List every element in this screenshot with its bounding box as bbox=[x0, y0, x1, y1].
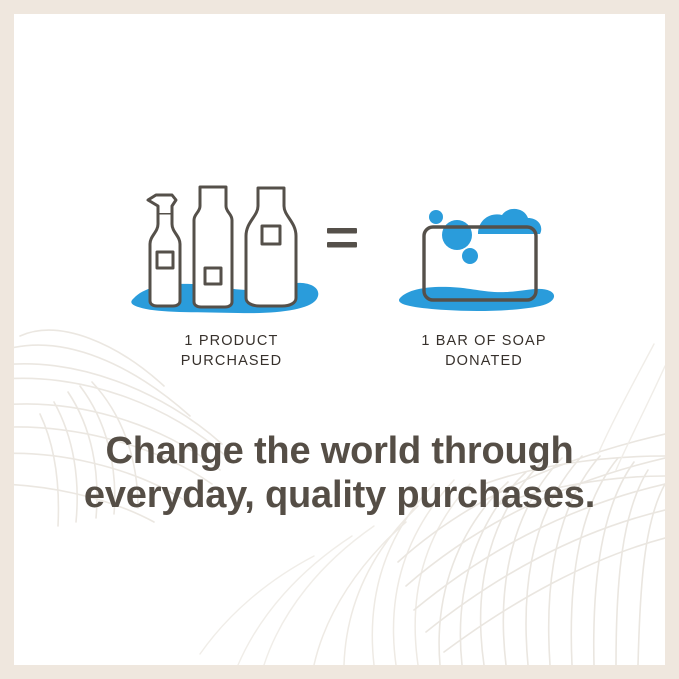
caption-line-2: PURCHASED bbox=[124, 351, 339, 371]
slim-bottle bbox=[194, 187, 232, 307]
caption-row: 1 PRODUCT PURCHASED 1 BAR OF SOAP DONATE… bbox=[14, 331, 665, 381]
round-shoulder-bottle bbox=[246, 188, 296, 306]
bubble-small-top bbox=[429, 210, 443, 224]
caption-line-1: 1 BAR OF SOAP bbox=[359, 331, 609, 351]
caption-product-purchased: 1 PRODUCT PURCHASED bbox=[124, 331, 339, 371]
headline: Change the world through everyday, quali… bbox=[14, 429, 665, 517]
pump-bottle bbox=[148, 195, 180, 306]
caption-line-2: DONATED bbox=[359, 351, 609, 371]
headline-line-2: everyday, quality purchases. bbox=[14, 473, 665, 517]
bubble-large bbox=[442, 220, 472, 250]
poster-canvas: 1 PRODUCT PURCHASED 1 BAR OF SOAP DONATE… bbox=[14, 14, 665, 665]
equation-row bbox=[14, 182, 665, 317]
equals-sign-icon bbox=[325, 222, 359, 256]
soap-bar-with-bubbles-icon bbox=[394, 194, 559, 319]
headline-line-1: Change the world through bbox=[14, 429, 665, 473]
promo-poster: 1 PRODUCT PURCHASED 1 BAR OF SOAP DONATE… bbox=[0, 0, 679, 679]
three-bottles-in-water-icon bbox=[126, 182, 322, 317]
caption-line-1: 1 PRODUCT bbox=[124, 331, 339, 351]
caption-soap-donated: 1 BAR OF SOAP DONATED bbox=[359, 331, 609, 371]
bubble-small-inner bbox=[462, 248, 478, 264]
